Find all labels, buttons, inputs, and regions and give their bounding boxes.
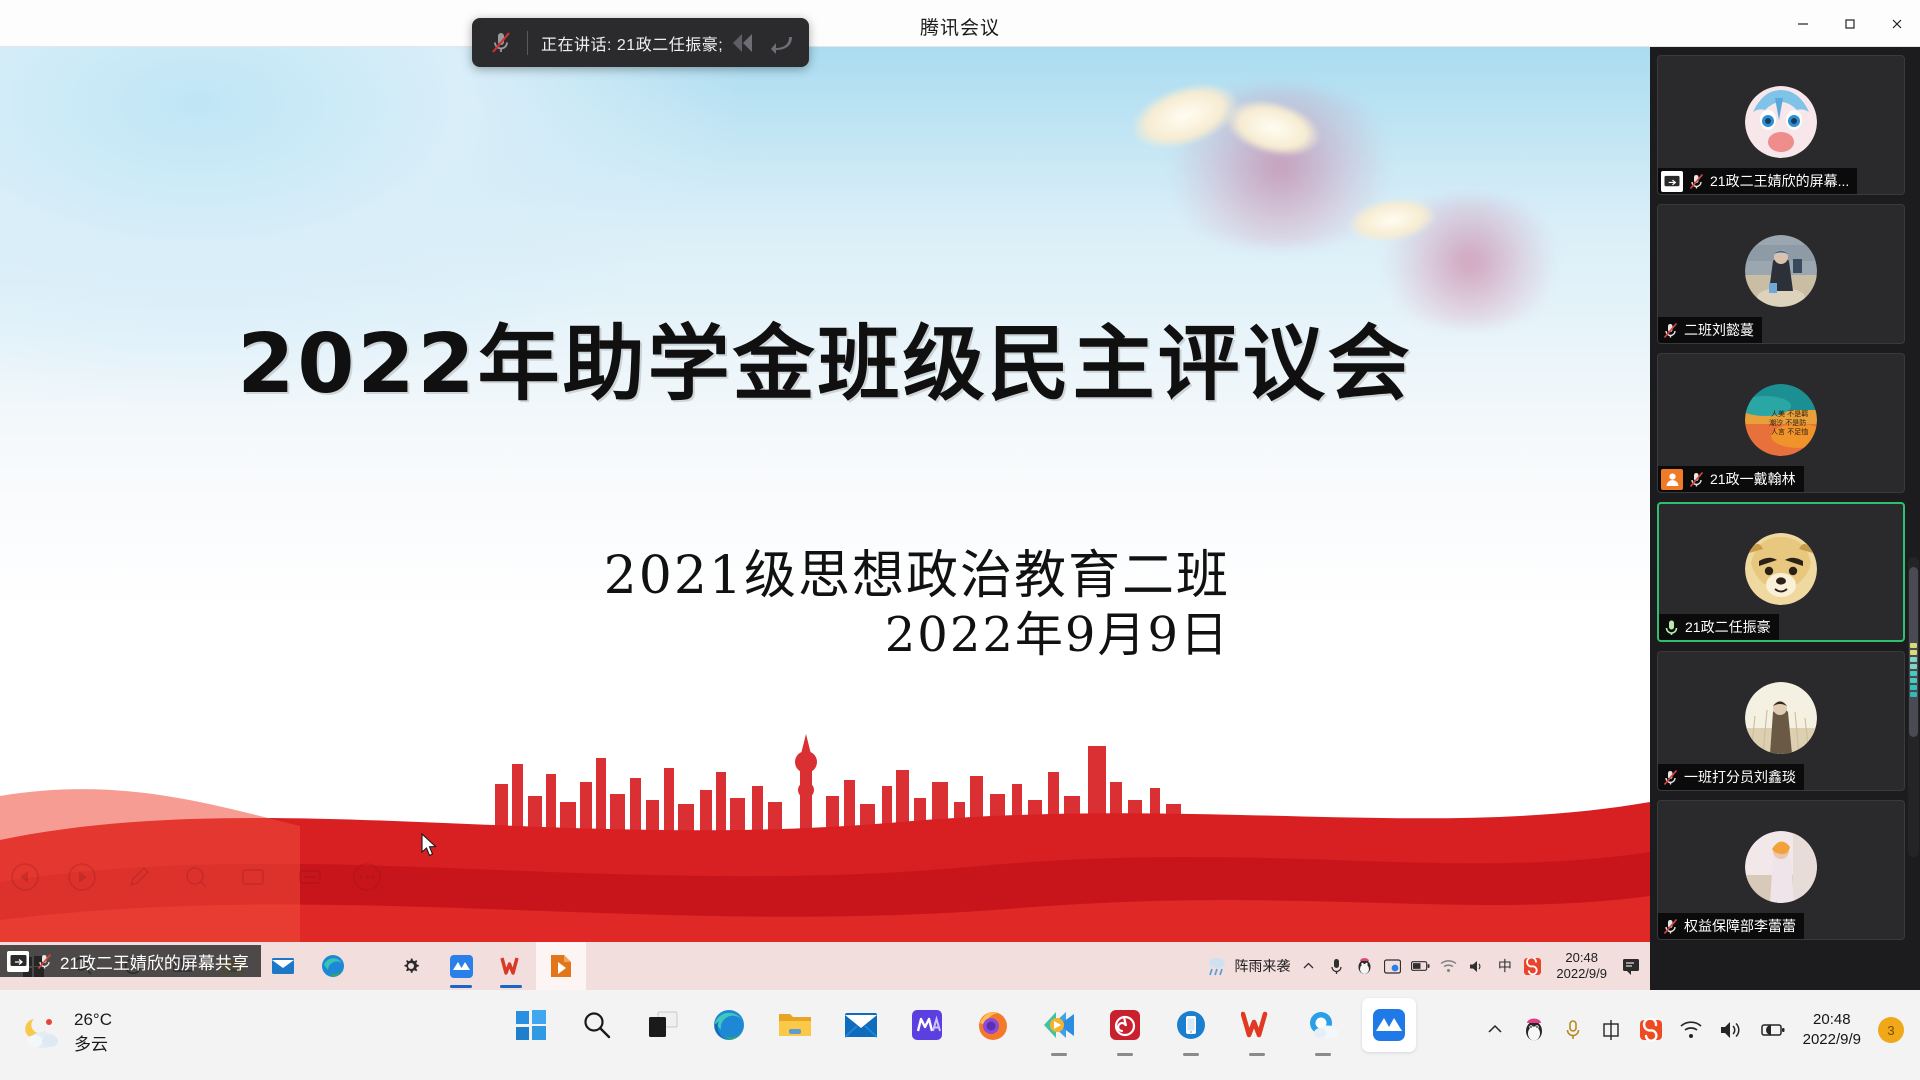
slide-title: 2022年助学金班级民主评议会 xyxy=(0,297,1650,416)
minimize-button[interactable] xyxy=(1779,0,1826,47)
notification-badge[interactable]: 3 xyxy=(1878,1017,1904,1043)
shared-clock-time: 20:48 xyxy=(1556,950,1607,966)
running-indicator xyxy=(450,985,472,988)
qq-icon[interactable] xyxy=(1522,1018,1546,1042)
ma-app-button[interactable] xyxy=(900,998,954,1052)
toolbar-divider xyxy=(527,31,528,55)
participant-name: 权益保障部李蕾蕾 xyxy=(1684,916,1796,936)
tencent-video-button[interactable] xyxy=(1032,998,1086,1052)
floating-speaker-toolbar[interactable]: 正在讲话: 21政二任振豪; xyxy=(472,18,809,67)
participant-tile[interactable]: 21政二王婧欣的屏幕... xyxy=(1657,55,1905,195)
tencent-meeting-button[interactable] xyxy=(1362,998,1416,1052)
volume-icon[interactable] xyxy=(1719,1020,1743,1040)
mic-muted-icon[interactable] xyxy=(486,28,516,58)
close-button[interactable] xyxy=(1873,0,1920,47)
show-hidden-icons-icon[interactable] xyxy=(1299,957,1318,976)
shared-screen-region: 2022年助学金班级民主评议会 2021级思想政治教育二班 2022年9月9日 xyxy=(0,47,1650,990)
red-ribbon-decoration xyxy=(0,590,1650,990)
level-segment xyxy=(1910,671,1917,676)
microphone-icon[interactable] xyxy=(1327,957,1346,976)
participant-name: 21政二王婧欣的屏幕... xyxy=(1710,171,1849,191)
netease-music-button[interactable] xyxy=(1098,998,1152,1052)
mic-muted-icon xyxy=(1661,768,1680,787)
avatar: 人美 不是羁 潮汐 不是防 人言 不足恤 xyxy=(1745,384,1817,456)
participant-footer: 二班刘懿蔓 xyxy=(1658,317,1762,343)
zoom-slide-icon[interactable] xyxy=(181,862,211,892)
show-hidden-icons-icon[interactable] xyxy=(1486,1021,1505,1040)
wifi-icon[interactable] xyxy=(1680,1020,1702,1040)
firefox-button[interactable] xyxy=(966,998,1020,1052)
svg-text:潮汐 不是防: 潮汐 不是防 xyxy=(1769,418,1806,427)
host-taskbar-clock[interactable]: 20:48 2022/9/9 xyxy=(1803,1010,1861,1051)
ime-icon[interactable] xyxy=(1600,1019,1622,1041)
avatar xyxy=(1745,533,1817,605)
participant-footer: 权益保障部李蕾蕾 xyxy=(1658,913,1804,939)
shared-taskbar-clock[interactable]: 20:48 2022/9/9 xyxy=(1551,950,1612,983)
mic-muted-icon xyxy=(1661,321,1680,340)
speaking-status-text: 正在讲话: 21政二任振豪; xyxy=(541,31,723,55)
host-taskbar: 26°C 多云 xyxy=(0,990,1920,1080)
slide-thumbnails-icon[interactable] xyxy=(238,862,268,892)
app-title-bar: 腾讯会议 xyxy=(0,0,1920,47)
participant-tile-active-speaker[interactable]: 21政二任振豪 xyxy=(1657,502,1905,642)
mic-muted-icon xyxy=(1687,172,1706,191)
mic-muted-icon xyxy=(35,952,54,971)
prev-slide-icon[interactable] xyxy=(10,862,40,892)
next-slide-icon[interactable] xyxy=(67,862,97,892)
participant-tile[interactable]: 人美 不是羁 潮汐 不是防 人言 不足恤 21政一戴翰林 xyxy=(1657,353,1905,493)
blank-screen-icon[interactable] xyxy=(295,862,325,892)
level-segment xyxy=(1910,650,1917,655)
weather-widget[interactable]: 26°C 多云 xyxy=(22,1008,112,1057)
participant-name: 21政二任振豪 xyxy=(1685,617,1771,637)
quark-button[interactable] xyxy=(1296,998,1350,1052)
shared-weather-text: 阵雨来袭 xyxy=(1234,956,1290,976)
battery-icon[interactable] xyxy=(1760,1021,1786,1039)
audio-level-meter xyxy=(1910,625,1917,697)
participant-footer: 21政二任振豪 xyxy=(1659,614,1779,640)
weather-condition: 多云 xyxy=(74,1033,112,1058)
search-button[interactable] xyxy=(570,998,624,1052)
screen-share-icon xyxy=(1661,171,1683,192)
participant-sidebar[interactable]: 21政二王婧欣的屏幕... xyxy=(1650,47,1920,990)
wifi-icon[interactable] xyxy=(1439,957,1458,976)
settings-icon[interactable] xyxy=(386,942,436,990)
running-indicator xyxy=(500,985,522,988)
sogou-icon[interactable] xyxy=(1523,957,1542,976)
participant-footer: 21政一戴翰林 xyxy=(1658,466,1804,492)
window-controls xyxy=(1779,0,1920,47)
chevrons-icon[interactable] xyxy=(723,23,763,63)
shared-clock-date: 2022/9/9 xyxy=(1556,966,1607,982)
mic-muted-icon xyxy=(1661,917,1680,936)
notification-center-icon[interactable] xyxy=(1621,957,1640,976)
avatar xyxy=(1745,831,1817,903)
pen-tool-icon[interactable] xyxy=(124,862,154,892)
task-view-button[interactable] xyxy=(636,998,690,1052)
ppt-presenter-controls[interactable] xyxy=(10,862,382,892)
level-segment xyxy=(1910,685,1917,690)
level-segment xyxy=(1910,657,1917,662)
participant-name: 21政一戴翰林 xyxy=(1710,469,1796,489)
partly-cloudy-night-icon xyxy=(22,1013,62,1053)
wps-button[interactable] xyxy=(1230,998,1284,1052)
avatar xyxy=(1745,86,1817,158)
file-explorer-button[interactable] xyxy=(768,998,822,1052)
photo-app-icon[interactable] xyxy=(1383,957,1402,976)
mail-button[interactable] xyxy=(834,998,888,1052)
mail-icon[interactable] xyxy=(258,942,308,990)
participant-footer: 一班打分员刘鑫琰 xyxy=(1658,764,1804,790)
avatar xyxy=(1745,682,1817,754)
screen-share-label: 21政二王婧欣的屏幕共享 xyxy=(0,945,261,977)
page-title: 腾讯会议 xyxy=(920,13,1000,40)
weather-temperature: 26°C xyxy=(74,1008,112,1033)
powerpoint-icon[interactable] xyxy=(536,942,586,990)
tencent-meeting-icon[interactable] xyxy=(436,942,486,990)
avatar xyxy=(1745,235,1817,307)
ime-icon[interactable]: 中 xyxy=(1495,957,1514,976)
clock-time: 20:48 xyxy=(1803,1010,1861,1030)
level-segment xyxy=(1910,692,1917,697)
presentation-slide: 2022年助学金班级民主评议会 2021级思想政治教育二班 2022年9月9日 xyxy=(0,47,1650,990)
phone-link-button[interactable] xyxy=(1164,998,1218,1052)
mic-active-icon xyxy=(1662,618,1681,637)
level-segment xyxy=(1910,678,1917,683)
microphone-icon[interactable] xyxy=(1563,1019,1583,1041)
edge-icon[interactable] xyxy=(308,942,358,990)
edge-button[interactable] xyxy=(702,998,756,1052)
mic-muted-icon xyxy=(1687,470,1706,489)
sogou-input-icon[interactable] xyxy=(1639,1018,1663,1042)
shared-weather-widget[interactable]: 阵雨来袭 xyxy=(1206,955,1290,977)
level-segment xyxy=(1910,664,1917,669)
svg-text:人美 不是羁: 人美 不是羁 xyxy=(1771,409,1808,418)
maximize-button[interactable] xyxy=(1826,0,1873,47)
volume-icon[interactable] xyxy=(1467,957,1486,976)
participant-tile[interactable]: 权益保障部李蕾蕾 xyxy=(1657,800,1905,940)
battery-icon[interactable] xyxy=(1411,957,1430,976)
participant-tile[interactable]: 一班打分员刘鑫琰 xyxy=(1657,651,1905,791)
level-segment xyxy=(1910,643,1917,648)
start-button[interactable] xyxy=(504,998,558,1052)
host-system-tray: 20:48 2022/9/9 3 xyxy=(1486,1010,1904,1051)
taskbar-app-list xyxy=(504,998,1416,1052)
mouse-cursor xyxy=(421,833,439,858)
host-badge-icon xyxy=(1661,469,1683,490)
qq-icon[interactable] xyxy=(1355,957,1374,976)
participant-tile[interactable]: 二班刘懿蔓 xyxy=(1657,204,1905,344)
clock-date: 2022/9/9 xyxy=(1803,1030,1861,1050)
screen-share-label-text: 21政二王婧欣的屏幕共享 xyxy=(60,949,249,974)
svg-text:人言 不足恤: 人言 不足恤 xyxy=(1771,427,1808,436)
wps-icon[interactable] xyxy=(486,942,536,990)
screen-share-icon xyxy=(7,951,29,972)
return-arrow-icon[interactable] xyxy=(763,23,803,63)
participant-footer: 21政二王婧欣的屏幕... xyxy=(1658,168,1857,194)
more-options-icon[interactable] xyxy=(352,862,382,892)
participant-name: 一班打分员刘鑫琰 xyxy=(1684,767,1796,787)
shared-taskbar-tray: 阵雨来袭 xyxy=(1206,950,1650,983)
participant-name: 二班刘懿蔓 xyxy=(1684,320,1754,340)
